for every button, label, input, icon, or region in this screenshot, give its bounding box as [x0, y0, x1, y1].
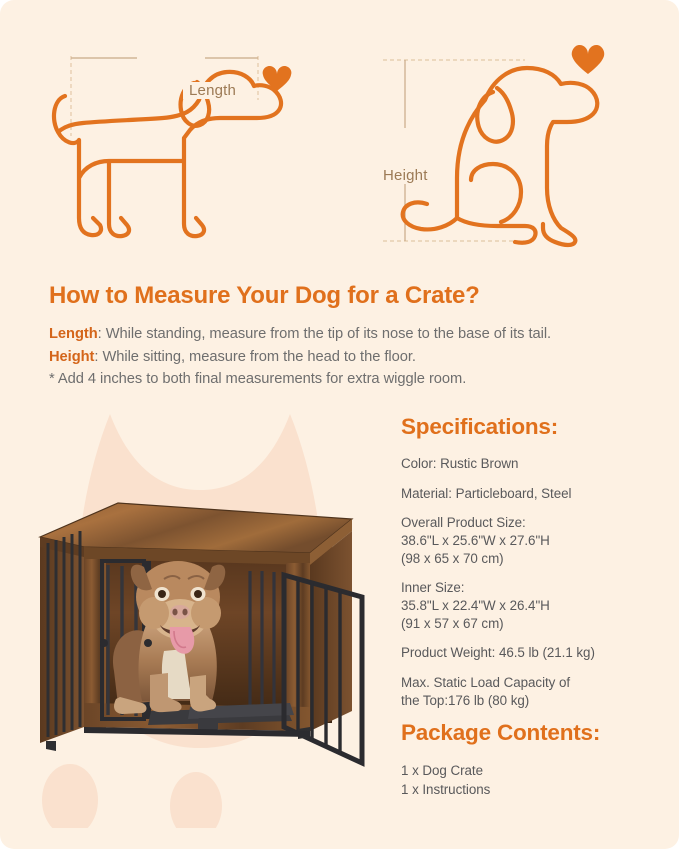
dog-crate-furniture-photo-image [22, 475, 367, 785]
how-to-measure-section: How to Measure Your Dog for a Crate? Len… [49, 283, 649, 391]
package-contents-section: Package Contents: 1 x Dog Crate 1 x Inst… [401, 720, 669, 799]
length-label: Length [183, 82, 242, 99]
measure-line-length: Length: While standing, measure from the… [49, 323, 649, 345]
dog-standing-outline-icon [45, 28, 355, 263]
measure-desc-length: : While standing, measure from the tip o… [98, 326, 551, 342]
measure-note: * Add 4 inches to both final measurement… [49, 368, 649, 390]
height-label: Height [377, 167, 434, 184]
spec-material-line: Material: Particleboard, Steel [401, 485, 669, 503]
spec-overall-size-metric: (98 x 65 x 70 cm) [401, 550, 669, 568]
dog-sitting-outline-icon [375, 28, 665, 263]
how-to-measure-title: How to Measure Your Dog for a Crate? [49, 283, 649, 309]
spec-color: Color: Rustic Brown [401, 455, 669, 473]
spec-load-capacity: Max. Static Load Capacity of the Top:176… [401, 674, 669, 709]
dog-crate-product-photo [22, 475, 367, 785]
spec-inner-size-metric: (91 x 57 x 67 cm) [401, 615, 669, 633]
spec-product-weight-line: Product Weight: 46.5 lb (21.1 kg) [401, 644, 669, 662]
lower-section: Specifications: Color: Rustic Brown Mate… [0, 400, 679, 849]
specifications-title: Specifications: [401, 414, 669, 440]
package-contents-title: Package Contents: [401, 720, 669, 746]
spec-overall-size: Overall Product Size: 38.6"L x 25.6"W x … [401, 514, 669, 567]
spec-inner-size-imperial: 35.8"L x 22.4"W x 26.4"H [401, 597, 669, 615]
infographic-page: Length Height How to Measure Your Dog [0, 0, 679, 849]
heart-icon [572, 45, 605, 74]
spec-inner-size-label: Inner Size: [401, 579, 669, 597]
spec-product-weight: Product Weight: 46.5 lb (21.1 kg) [401, 644, 669, 662]
spec-load-capacity-line2: the Top:176 lb (80 kg) [401, 692, 669, 710]
spec-overall-size-label: Overall Product Size: [401, 514, 669, 532]
standing-dog-diagram: Length [45, 28, 355, 263]
spec-overall-size-imperial: 38.6"L x 25.6"W x 27.6"H [401, 532, 669, 550]
spec-load-capacity-line1: Max. Static Load Capacity of [401, 674, 669, 692]
spec-color-line: Color: Rustic Brown [401, 455, 669, 473]
spec-inner-size: Inner Size: 35.8"L x 22.4"W x 26.4"H (91… [401, 579, 669, 632]
package-item-instructions: 1 x Instructions [401, 780, 669, 799]
measure-term-length: Length [49, 326, 98, 342]
specifications-section: Specifications: Color: Rustic Brown Mate… [401, 414, 669, 721]
spec-material: Material: Particleboard, Steel [401, 485, 669, 503]
sitting-dog-diagram: Height [375, 28, 665, 263]
measurement-diagrams: Length Height [0, 0, 679, 272]
measure-line-height: Height: While sitting, measure from the … [49, 346, 649, 368]
package-item-crate: 1 x Dog Crate [401, 761, 669, 780]
measure-desc-height: : While sitting, measure from the head t… [94, 349, 416, 365]
measure-term-height: Height [49, 349, 94, 365]
